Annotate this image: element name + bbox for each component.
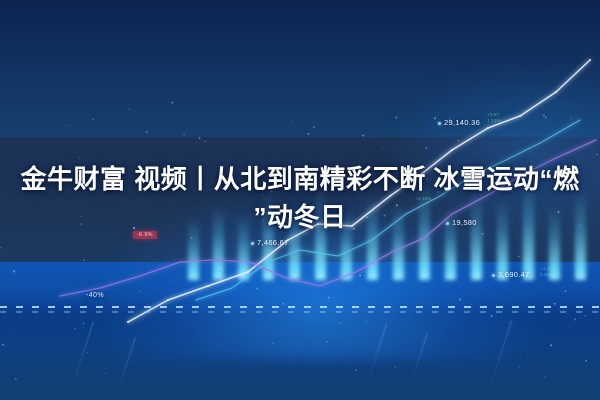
chart-value-label: 7,466.67 <box>251 238 289 247</box>
banner-image: 29,140.3619,5803,690.477,466.67 -40% +0.… <box>0 0 600 400</box>
value-marker-icon <box>251 242 254 245</box>
micro-stat-label: 1.24% <box>487 118 501 124</box>
headline-line-1: 金牛财富 视频丨从北到南精彩不断 冰雪运动“燃 <box>0 160 600 198</box>
chart-value-text: 3,690.47 <box>498 270 530 279</box>
page-title: 金牛财富 视频丨从北到南精彩不断 冰雪运动“燃 ”动冬日 <box>0 160 600 236</box>
chart-value-label: 29,140.36 <box>438 118 480 127</box>
value-marker-icon <box>438 122 441 125</box>
background-band-top <box>0 0 600 137</box>
chart-value-text: 29,140.36 <box>444 118 480 127</box>
chart-value-label: 3,690.47 <box>492 270 530 279</box>
micro-stat-label: 0.56% <box>540 272 554 278</box>
value-marker-icon <box>492 274 495 277</box>
percent-label: -40% <box>86 292 104 299</box>
chart-value-text: 7,466.67 <box>257 238 289 247</box>
background-band-bottom <box>0 312 600 400</box>
headline-line-2: ”动冬日 <box>0 198 600 236</box>
